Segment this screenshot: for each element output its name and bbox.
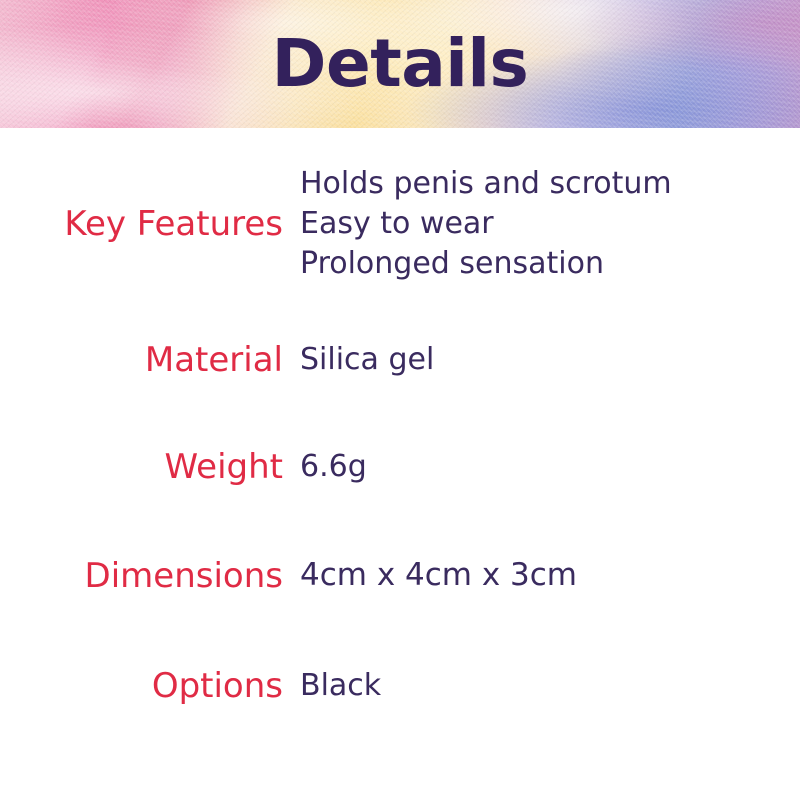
table-row: Weight 6.6g (0, 413, 800, 521)
header-banner: Details (0, 0, 800, 128)
table-row: Options Black (0, 631, 800, 741)
table-row: Material Silica gel (0, 308, 800, 413)
spec-label-material: Material (0, 340, 283, 380)
table-row: Key Features Holds penis and scrotum Eas… (0, 140, 800, 308)
spec-value-dimensions: 4cm x 4cm x 3cm (283, 555, 800, 597)
spec-label-options: Options (0, 666, 283, 706)
spec-label-dimensions: Dimensions (0, 556, 283, 596)
page-title: Details (0, 31, 800, 97)
table-row: Dimensions 4cm x 4cm x 3cm (0, 521, 800, 631)
spec-value-weight: 6.6g (283, 447, 800, 487)
feature-line: Prolonged sensation (300, 244, 800, 284)
spec-value-key-features: Holds penis and scrotum Easy to wear Pro… (283, 164, 800, 285)
spec-label-key-features: Key Features (0, 204, 283, 244)
details-spec-table: Key Features Holds penis and scrotum Eas… (0, 128, 800, 741)
spec-value-options: Black (283, 666, 800, 706)
feature-line: Easy to wear (300, 204, 800, 244)
feature-line: Holds penis and scrotum (300, 164, 800, 204)
spec-label-weight: Weight (0, 447, 283, 487)
spec-value-material: Silica gel (283, 340, 800, 380)
